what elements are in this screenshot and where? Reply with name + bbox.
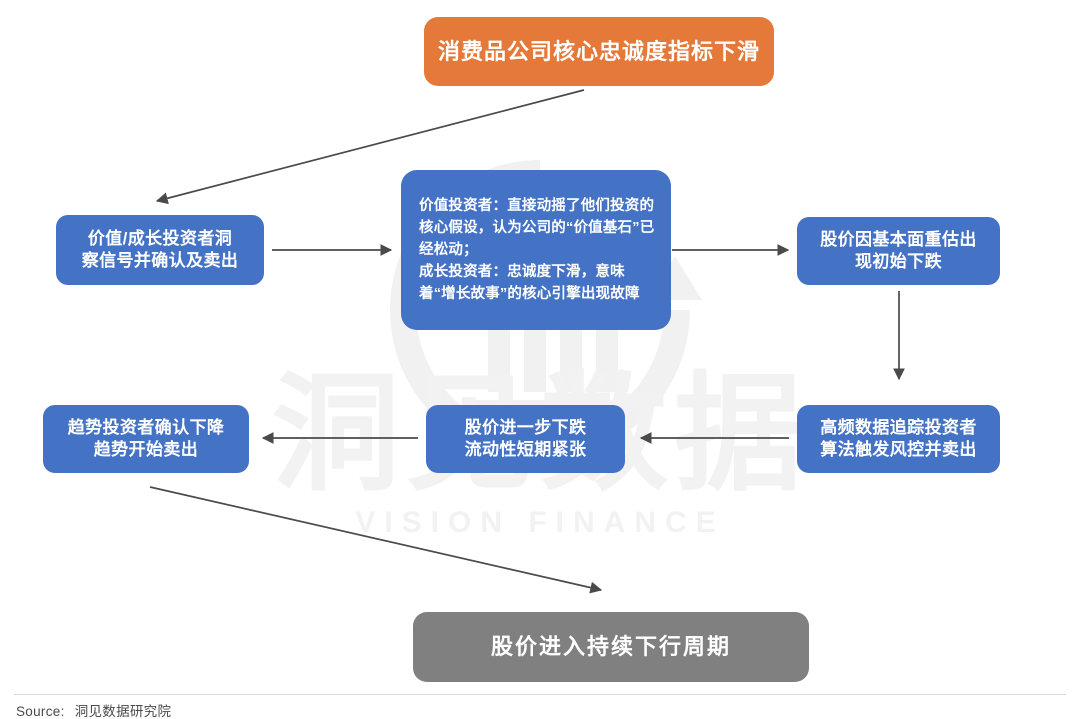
svg-text:VISION FINANCE: VISION FINANCE	[355, 506, 724, 539]
node-value-growth-investors[interactable]: 价值/成长投资者洞 察信号并确认及卖出	[56, 215, 264, 285]
node-trend-investors-sell[interactable]: 趋势投资者确认下降 趋势开始卖出	[43, 405, 249, 473]
diagram-canvas: 洞见数据 VISION FINANCE 消费品公司核心忠诚度指标下滑 价值/成长…	[0, 0, 1080, 719]
edge-trend-to-downtrend	[150, 487, 601, 590]
source-label: Source:	[16, 704, 65, 719]
footer-divider	[14, 694, 1066, 695]
node-hft-risk-control[interactable]: 高频数据追踪投资者 算法触发风控并卖出	[797, 405, 1000, 473]
source-line: Source: 洞见数据研究院	[16, 700, 171, 719]
node-trigger[interactable]: 消费品公司核心忠诚度指标下滑	[424, 17, 774, 86]
node-initial-price-drop[interactable]: 股价因基本面重估出 现初始下跌	[797, 217, 1000, 285]
node-sustained-downtrend[interactable]: 股价进入持续下行周期	[413, 612, 809, 682]
node-investor-reasoning-detail[interactable]: 价值投资者：直接动摇了他们投资的核心假设，认为公司的“价值基石”已经松动； 成长…	[401, 170, 671, 330]
node-further-price-drop[interactable]: 股价进一步下跌 流动性短期紧张	[426, 405, 625, 473]
source-value: 洞见数据研究院	[75, 704, 172, 719]
